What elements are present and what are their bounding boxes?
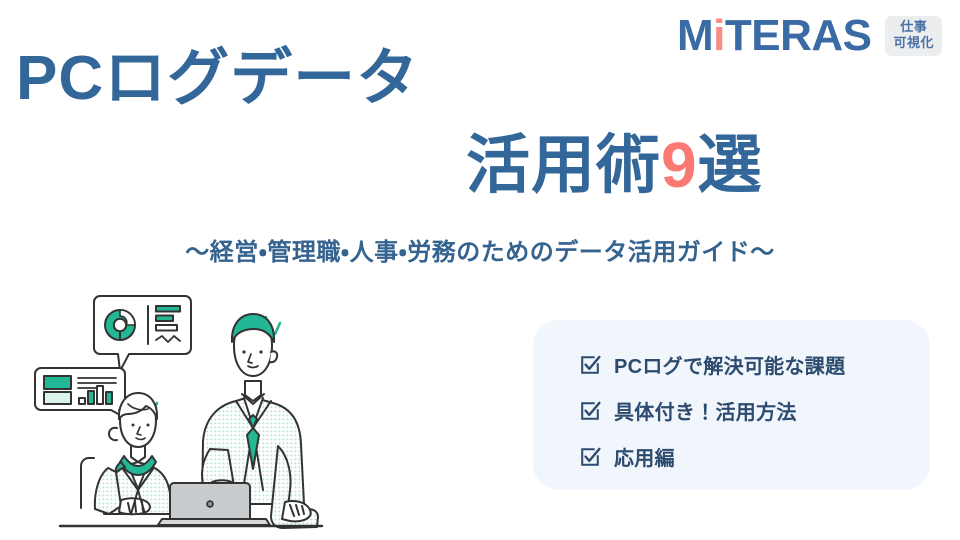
checklist-item-label: 応用編 <box>614 442 675 471</box>
donut-chart-bubble <box>94 296 191 371</box>
miteras-wordmark: MiTERAS <box>677 14 872 58</box>
two-business-people-with-laptop-illustration <box>22 286 342 536</box>
subtitle: 〜経営・管理職・人事・労務のためのデータ活用ガイド〜 <box>0 239 960 268</box>
headline-line-2-before: 活用術 <box>466 129 661 201</box>
tagline-badge-line2: 可視化 <box>893 36 934 51</box>
checklist-item: 応用編 <box>579 442 930 471</box>
poster-canvas: MiTERAS 仕事 可視化 PCログデータ 活用術9選 〜経営・管理職・人事・… <box>0 0 960 540</box>
headline-line-2: 活用術9選 <box>466 133 763 197</box>
checkbox-checked-icon <box>579 446 601 468</box>
solid-tile <box>44 376 71 389</box>
logo-suffix: TERAS <box>725 11 872 60</box>
donut-chart <box>105 310 135 340</box>
tagline-badge-line1: 仕事 <box>893 20 934 35</box>
checklist-item: PCログで解決可能な課題 <box>579 350 930 379</box>
seated-businesswoman <box>81 393 171 514</box>
checklist-item-label: 具体付き！活用方法 <box>614 396 797 425</box>
light-tile <box>44 392 71 404</box>
headline-line-2-after: 選 <box>698 129 763 201</box>
checklist-item: 具体付き！活用方法 <box>579 396 930 425</box>
dashboard-bubble <box>35 368 131 421</box>
checklist-item-label: PCログで解決可能な課題 <box>614 350 845 379</box>
brand-logo: MiTERAS 仕事 可視化 <box>677 14 942 58</box>
logo-accent-letter: i <box>713 11 725 60</box>
tagline-badge: 仕事 可視化 <box>885 16 942 56</box>
checklist-panel: PCログで解決可能な課題 具体付き！活用方法 応用編 <box>533 320 930 490</box>
headline-line-1: PCログデータ <box>16 48 419 110</box>
checkbox-checked-icon <box>579 400 601 422</box>
checkbox-checked-icon <box>579 354 601 376</box>
headline-count-number: 9 <box>661 129 698 201</box>
logo-prefix: M <box>677 11 713 60</box>
